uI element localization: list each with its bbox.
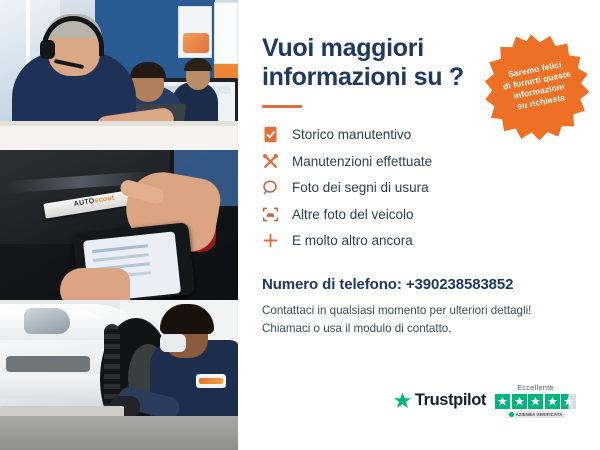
wall-poster xyxy=(178,6,212,58)
workshop-floor xyxy=(0,416,238,450)
uniform-logo xyxy=(196,374,226,388)
technician-hand-holding-tablet xyxy=(60,268,130,300)
phone-label: Numero di telefono: xyxy=(262,276,402,293)
star-filled xyxy=(545,394,560,409)
plus-icon xyxy=(262,232,279,249)
car-grille xyxy=(6,356,90,372)
info-panel: Vuoi maggiori informazioni su ? Saremo f… xyxy=(238,0,600,450)
page-title-line-1: Vuoi maggiori xyxy=(262,34,424,62)
photo-vehicle-damage-measurement: AUTOscout xyxy=(0,150,238,300)
star-filled xyxy=(512,394,527,409)
trustpilot-rating-block: Eccellente AZIENDA VERIFICATA xyxy=(495,383,576,418)
document-check-icon xyxy=(262,126,279,143)
car-scan-icon xyxy=(262,206,279,223)
feature-item-manutenzioni-effettuate[interactable]: Manutenzioni effettuate xyxy=(262,148,578,175)
desk-surface xyxy=(0,126,238,150)
trustpilot-star-icon xyxy=(393,392,412,410)
car-bumper xyxy=(0,374,108,398)
contact-note-line-2: Chiamaci o usa il modulo di contatto. xyxy=(262,320,578,338)
contact-note-line-1: Contattaci in qualsiasi momento per ulte… xyxy=(262,302,578,320)
photo-mechanic-wheel-inspection xyxy=(0,300,238,450)
verified-company-badge: AZIENDA VERIFICATA xyxy=(506,411,566,418)
magnifier-icon xyxy=(262,179,279,196)
mechanic-face-mask xyxy=(160,334,186,352)
photo-call-center-agent-with-headset xyxy=(0,0,238,150)
trustpilot-widget[interactable]: Trustpilot Eccellente AZIENDA VERIFICATA xyxy=(393,383,576,418)
phone-number[interactable]: +390238583852 xyxy=(406,276,514,293)
phone-line: Numero di telefono: +390238583852 xyxy=(262,276,578,293)
trustpilot-rating-label: Eccellente xyxy=(517,383,554,392)
badge-content: Saremo felici di fornirti queste informa… xyxy=(475,23,600,150)
feature-item-e-molto-altro[interactable]: E molto altro ancora xyxy=(262,228,578,255)
trustpilot-stars xyxy=(495,394,576,409)
star-filled xyxy=(495,394,510,409)
feature-label: E molto altro ancora xyxy=(292,233,413,248)
promo-card: AUTOscout xyxy=(0,0,600,450)
callout-badge: Saremo felici di fornirti queste informa… xyxy=(484,32,592,140)
feature-label: Foto dei segni di usura xyxy=(292,180,429,195)
feature-item-foto-segni-usura[interactable]: Foto dei segni di usura xyxy=(262,175,578,202)
star-half xyxy=(561,394,576,409)
feature-label: Altre foto del veicolo xyxy=(292,207,414,222)
contact-note: Contattaci in qualsiasi momento per ulte… xyxy=(262,302,578,338)
star-filled xyxy=(528,394,543,409)
feature-item-altre-foto-veicolo[interactable]: Altre foto del veicolo xyxy=(262,201,578,228)
feature-label: Manutenzioni effettuate xyxy=(292,154,432,169)
verified-label: AZIENDA VERIFICATA xyxy=(516,412,563,417)
crossed-tools-icon xyxy=(262,153,279,170)
page-title-line-2: informazioni su ? xyxy=(262,63,464,91)
headset-icon xyxy=(475,40,497,58)
trustpilot-brand-name: Trustpilot xyxy=(415,391,486,410)
wall-poster-secondary xyxy=(214,2,238,64)
car-headlight xyxy=(24,308,70,334)
verified-check-icon xyxy=(509,412,514,417)
photo-column: AUTOscout xyxy=(0,0,238,450)
trustpilot-logo: Trustpilot xyxy=(393,391,486,410)
agent-headset-earcup xyxy=(40,40,55,59)
feature-label: Storico manutentivo xyxy=(292,127,411,142)
title-divider xyxy=(262,105,302,108)
